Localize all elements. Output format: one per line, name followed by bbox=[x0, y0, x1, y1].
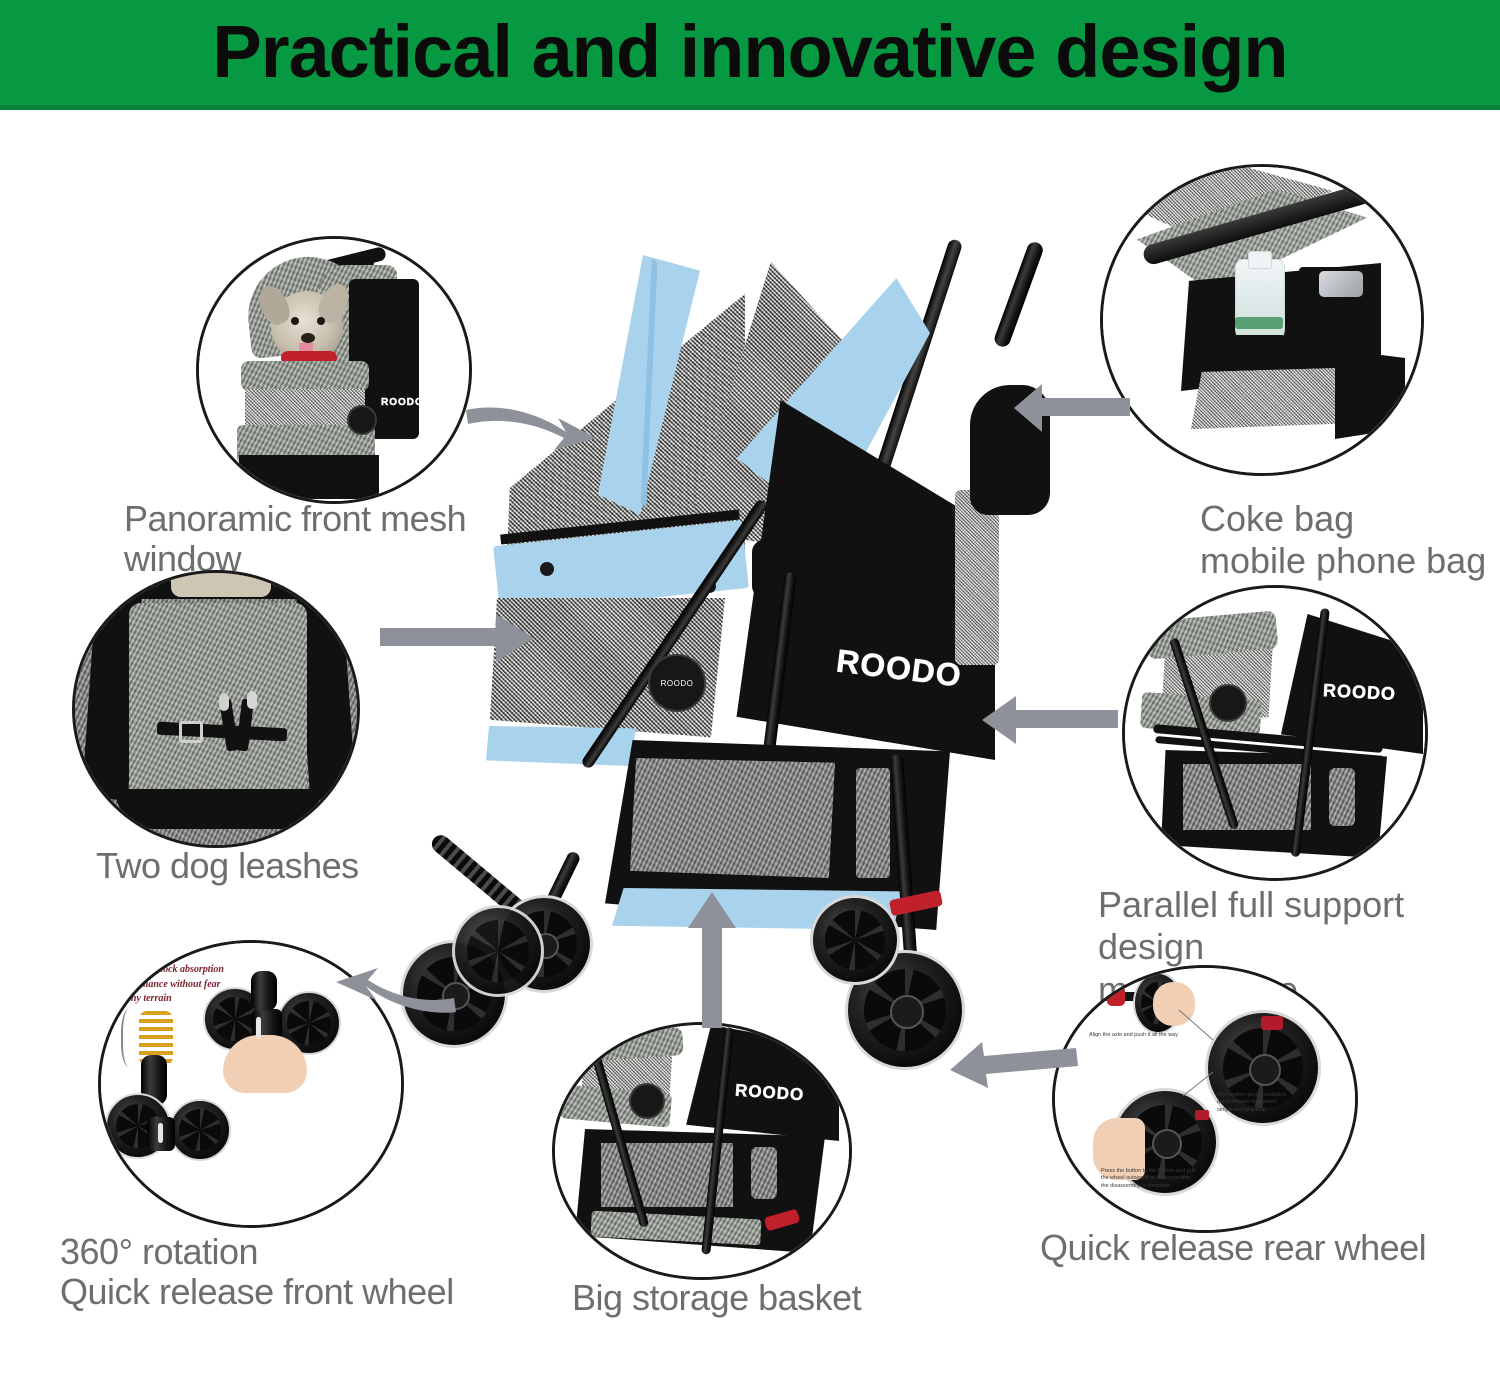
inset-panoramic-front-mesh-window: ROODO bbox=[196, 236, 472, 504]
hand-icon bbox=[223, 1035, 307, 1093]
frame-joint bbox=[752, 540, 810, 598]
inset-1-roodo-badge bbox=[347, 405, 377, 435]
inset-7-roodo-badge bbox=[629, 1083, 665, 1119]
inset-coke-bag-mobile-phone-bag bbox=[1100, 164, 1424, 476]
rear-wheel-hub bbox=[890, 995, 924, 1029]
caption-360-rotation-quick-release-front-wheel: 360° rotation Quick release front wheel bbox=[60, 1232, 540, 1313]
arrow-to-parallel-support bbox=[980, 690, 1120, 750]
caption-quick-release-rear-wheel: Quick release rear wheel bbox=[1040, 1228, 1460, 1268]
arrow-to-storage-basket bbox=[682, 890, 742, 1030]
cabin-side-mesh bbox=[955, 490, 999, 665]
infographic-page: Practical and innovative design ROODO bbox=[0, 0, 1500, 1395]
inset-2-photo bbox=[75, 573, 357, 845]
inset-1-brand: ROODO bbox=[381, 397, 424, 408]
rear-wheel-second-spokes bbox=[825, 910, 886, 971]
inset-big-storage-basket: ROODO bbox=[552, 1022, 852, 1280]
front-wheel-far-spokes bbox=[467, 920, 529, 982]
roodo-badge: ROODO bbox=[648, 654, 706, 712]
inset-1-photo: ROODO bbox=[199, 239, 469, 501]
inset-quick-release-rear-wheel: Align the axle and push it all the way O… bbox=[1052, 965, 1358, 1233]
leash-clip-2 bbox=[247, 691, 257, 709]
inset-two-dog-leashes bbox=[72, 570, 360, 848]
rear-wheel-second bbox=[810, 895, 900, 985]
caption-big-storage-basket: Big storage basket bbox=[572, 1278, 932, 1318]
inset-5-brand: ROODO bbox=[1323, 680, 1397, 705]
roodo-badge-mark: ROODO bbox=[661, 679, 694, 688]
handle-grip bbox=[992, 240, 1045, 349]
inset-7-photo: ROODO bbox=[555, 1025, 849, 1277]
arrow-to-two-dog-leashes bbox=[378, 608, 538, 668]
arrow-to-front-wheel bbox=[330, 950, 460, 1030]
arrow-to-rear-wheel bbox=[948, 1030, 1078, 1098]
inset-5-roodo-badge bbox=[1209, 684, 1247, 722]
front-wheel-far bbox=[452, 905, 544, 997]
inset-4-photo bbox=[1103, 167, 1421, 473]
inset-6-callout-lines bbox=[1055, 968, 1355, 1230]
inset-parallel-full-support-design: ROODO bbox=[1122, 585, 1428, 881]
page-title: Practical and innovative design bbox=[0, 0, 1500, 110]
caption-coke-bag-mobile-phone-bag: Coke bag mobile phone bag bbox=[1200, 498, 1500, 583]
water-bottle bbox=[1235, 259, 1285, 343]
arrow-to-panoramic-window bbox=[462, 392, 602, 472]
storage-basket-mesh bbox=[630, 758, 835, 878]
inset-5-photo: ROODO bbox=[1125, 588, 1425, 878]
leash-clip-1 bbox=[219, 693, 229, 711]
arrow-to-coke-bag bbox=[1012, 378, 1132, 438]
inset-6-photo: Align the axle and push it all the way O… bbox=[1055, 968, 1355, 1230]
leash-buckle bbox=[179, 721, 203, 743]
storage-basket-mesh-right bbox=[856, 768, 890, 878]
mobile-phone bbox=[1319, 271, 1363, 297]
caption-two-dog-leashes: Two dog leashes bbox=[96, 846, 496, 886]
caption-panoramic-front-mesh-window: Panoramic front mesh window bbox=[124, 499, 584, 580]
